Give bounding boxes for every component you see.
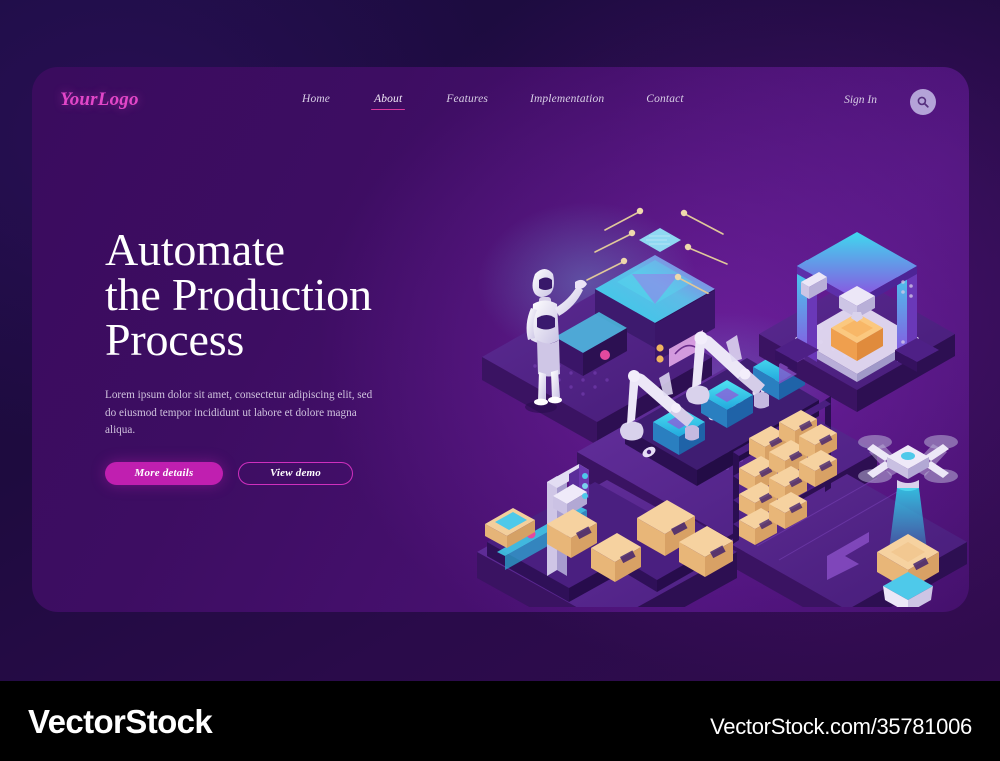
hero-title: Automate the Production Process — [105, 227, 465, 362]
hero-section: Automate the Production Process Lorem ip… — [105, 227, 465, 485]
vectorstock-url: VectorStock.com/35781006 — [710, 714, 972, 740]
3d-printer — [775, 232, 939, 382]
main-navigation: Home About Features Implementation Conta… — [302, 93, 684, 110]
robot-operator — [525, 269, 587, 413]
vectorstock-footer: VectorStock VectorStock.com/35781006 — [0, 681, 1000, 761]
screenshot-stage: YourLogo Home About Features Implementat… — [0, 0, 1000, 761]
hero-card: YourLogo Home About Features Implementat… — [32, 67, 969, 612]
more-details-button[interactable]: More details — [105, 462, 223, 485]
factory-illustration — [427, 152, 969, 607]
hero-actions: More details View demo — [105, 462, 465, 485]
hero-title-line-3: Process — [105, 317, 465, 362]
conveyor-belt — [625, 358, 819, 486]
vectorstock-brand: VectorStock — [28, 703, 212, 741]
site-header: YourLogo Home About Features Implementat… — [32, 67, 969, 137]
platform-conveyor — [577, 367, 877, 562]
conveyor-boxes — [653, 352, 805, 455]
platform-warehouse — [727, 474, 967, 607]
search-button[interactable] — [910, 89, 936, 115]
sign-in-link[interactable]: Sign In — [844, 94, 877, 106]
nav-item-about[interactable]: About — [374, 93, 402, 110]
view-demo-button[interactable]: View demo — [238, 462, 353, 485]
robotic-arms — [620, 332, 769, 441]
site-logo[interactable]: YourLogo — [60, 89, 139, 111]
nav-item-contact[interactable]: Contact — [646, 93, 683, 110]
delivery-drone — [858, 435, 958, 607]
control-console — [555, 208, 727, 376]
hero-title-line-2: the Production — [105, 272, 465, 317]
platform-robot-console — [482, 292, 712, 445]
nav-item-features[interactable]: Features — [446, 93, 488, 110]
hero-title-line-1: Automate — [105, 227, 465, 272]
platform-packaging — [477, 480, 737, 607]
hero-description: Lorem ipsum dolor sit amet, consectetur … — [105, 387, 373, 440]
platform-3d-printer — [759, 278, 955, 412]
packaging-line — [485, 464, 733, 602]
search-icon — [916, 95, 930, 109]
nav-item-home[interactable]: Home — [302, 93, 330, 110]
nav-item-implementation[interactable]: Implementation — [530, 93, 604, 110]
warehouse-shelving — [733, 396, 837, 545]
